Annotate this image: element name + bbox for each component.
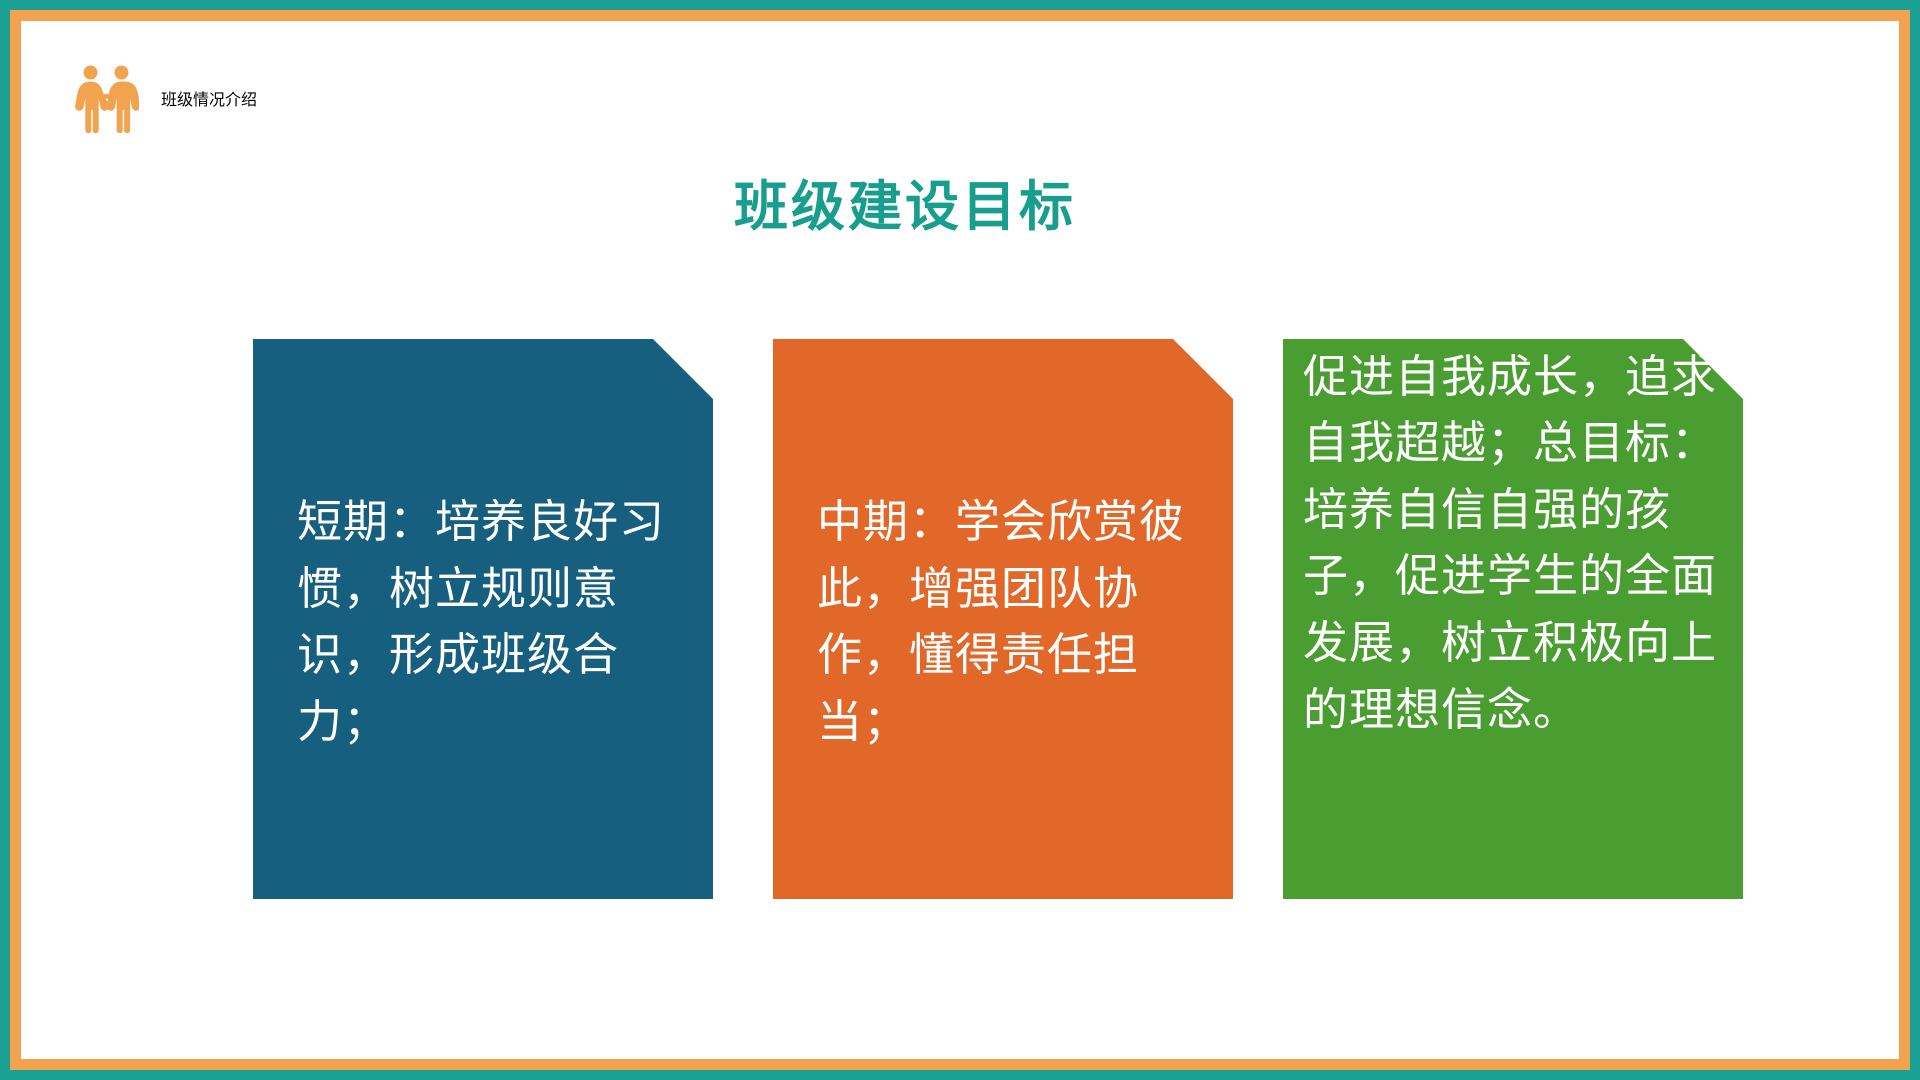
slide-canvas: 班级情况介绍 班级建设目标 短期：培养良好习惯，树立规则意识，形成班级合力； 中… — [21, 21, 1899, 1059]
section-heading: 班级建设目标 — [21, 176, 1844, 238]
slide-header: 班级情况介绍 — [73, 63, 257, 133]
short-term-card-text: 短期：培养良好习惯，树立规则意识，形成班级合力； — [253, 489, 713, 755]
two-children-holding-hands-icon — [73, 63, 139, 133]
slide-orange-frame: 班级情况介绍 班级建设目标 短期：培养良好习惯，树立规则意识，形成班级合力； 中… — [10, 10, 1910, 1070]
long-term-card-text: 长期：会自主学习，促进自我成长，追求自我超越；总目标：培养自信自强的孩子，促进学… — [1283, 277, 1743, 743]
short-term-goal-card[interactable]: 短期：培养良好习惯，树立规则意识，形成班级合力； — [253, 339, 713, 899]
page-title: 班级情况介绍 — [161, 86, 257, 110]
mid-term-card-text: 中期：学会欣赏彼此，增强团队协作，懂得责任担当； — [773, 489, 1233, 755]
mid-term-goal-card[interactable]: 中期：学会欣赏彼此，增强团队协作，懂得责任担当； — [773, 339, 1233, 899]
slide-root: 班级情况介绍 班级建设目标 短期：培养良好习惯，树立规则意识，形成班级合力； 中… — [0, 0, 1920, 1080]
long-term-goal-card[interactable]: 长期：会自主学习，促进自我成长，追求自我超越；总目标：培养自信自强的孩子，促进学… — [1283, 339, 1743, 899]
